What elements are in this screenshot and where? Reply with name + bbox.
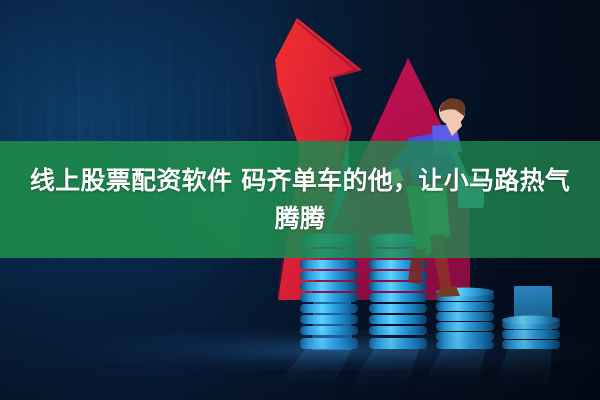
headline-text: 线上股票配资软件 码齐单车的他，让小马路热气腾腾: [20, 162, 580, 238]
cover-image: 线上股票配资软件 码齐单车的他，让小马路热气腾腾: [0, 0, 600, 400]
headline-container: 线上股票配资软件 码齐单车的他，让小马路热气腾腾: [0, 141, 600, 258]
floor-glow: [0, 330, 600, 370]
